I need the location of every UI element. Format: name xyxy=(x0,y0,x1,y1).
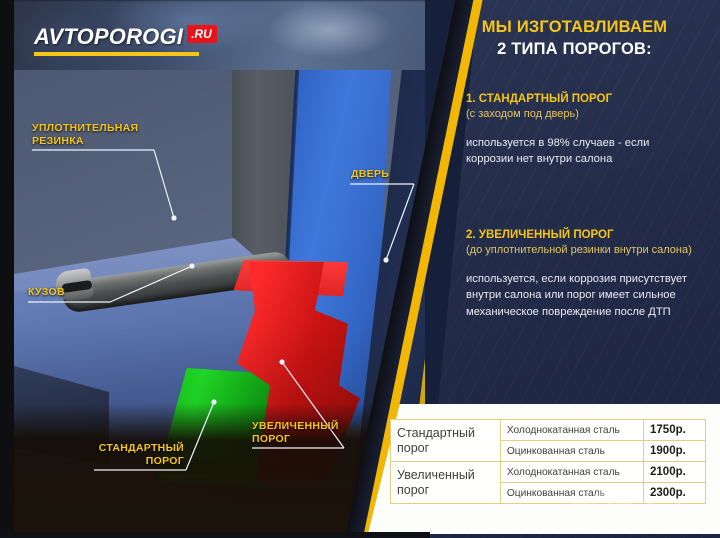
label-increased-sill: УВЕЛИЧЕННЫЙ ПОРОГ xyxy=(252,420,339,446)
price-category-standard: Стандартный порог xyxy=(391,420,501,462)
price-value: 2300р. xyxy=(644,483,706,504)
label-rubber-seal: УПЛОТНИТЕЛЬНАЯ РЕЗИНКА xyxy=(32,122,138,148)
left-frame-border xyxy=(0,0,14,538)
price-material: Холоднокатанная сталь xyxy=(500,420,643,441)
promo-poster: AVTOPOROGI.RU xyxy=(0,0,720,538)
section-standard-title: 1. СТАНДАРТНЫЙ ПОРОГ xyxy=(466,92,698,107)
price-value: 1750р. xyxy=(644,420,706,441)
section-standard: 1. СТАНДАРТНЫЙ ПОРОГ (с заходом под двер… xyxy=(466,92,698,168)
price-value: 1900р. xyxy=(644,441,706,462)
price-category-increased: Увеличенный порог xyxy=(391,462,501,504)
section-increased: 2. УВЕЛИЧЕННЫЙ ПОРОГ (до уплотнительной … xyxy=(466,228,698,320)
headline-line-2: 2 ТИПА ПОРОГОВ: xyxy=(432,40,717,59)
table-row: Увеличенный порог Холоднокатанная сталь … xyxy=(391,462,706,483)
section-increased-title: 2. УВЕЛИЧЕННЫЙ ПОРОГ xyxy=(466,228,698,243)
price-material: Оцинкованная сталь xyxy=(500,441,643,462)
price-table: Стандартный порог Холоднокатанная сталь … xyxy=(390,419,706,504)
price-value: 2100р. xyxy=(644,462,706,483)
section-increased-body: используется, если коррозия присутствует… xyxy=(466,271,698,321)
brand-logo[interactable]: AVTOPOROGI.RU xyxy=(34,24,217,56)
bottom-frame-border xyxy=(0,532,430,538)
section-standard-body: используется в 98% случаев - если корроз… xyxy=(466,135,698,168)
headline: МЫ ИЗГОТАВЛИВАЕМ 2 ТИПА ПОРОГОВ: xyxy=(432,18,717,59)
headline-line-1: МЫ ИЗГОТАВЛИВАЕМ xyxy=(432,18,717,37)
price-material: Оцинкованная сталь xyxy=(500,483,643,504)
logo-underline xyxy=(34,52,199,56)
brand-tld-badge: .RU xyxy=(187,25,217,43)
brand-name: AVTOPOROGI xyxy=(34,24,183,50)
price-material: Холоднокатанная сталь xyxy=(500,462,643,483)
label-door: ДВЕРЬ xyxy=(351,168,389,181)
label-body: КУЗОВ xyxy=(28,286,65,299)
section-increased-subtitle: (до уплотнительной резинки внутри салона… xyxy=(466,243,698,258)
section-standard-subtitle: (с заходом под дверь) xyxy=(466,107,698,122)
table-row: Стандартный порог Холоднокатанная сталь … xyxy=(391,420,706,441)
label-standard-sill: СТАНДАРТНЫЙ ПОРОГ xyxy=(92,442,184,468)
